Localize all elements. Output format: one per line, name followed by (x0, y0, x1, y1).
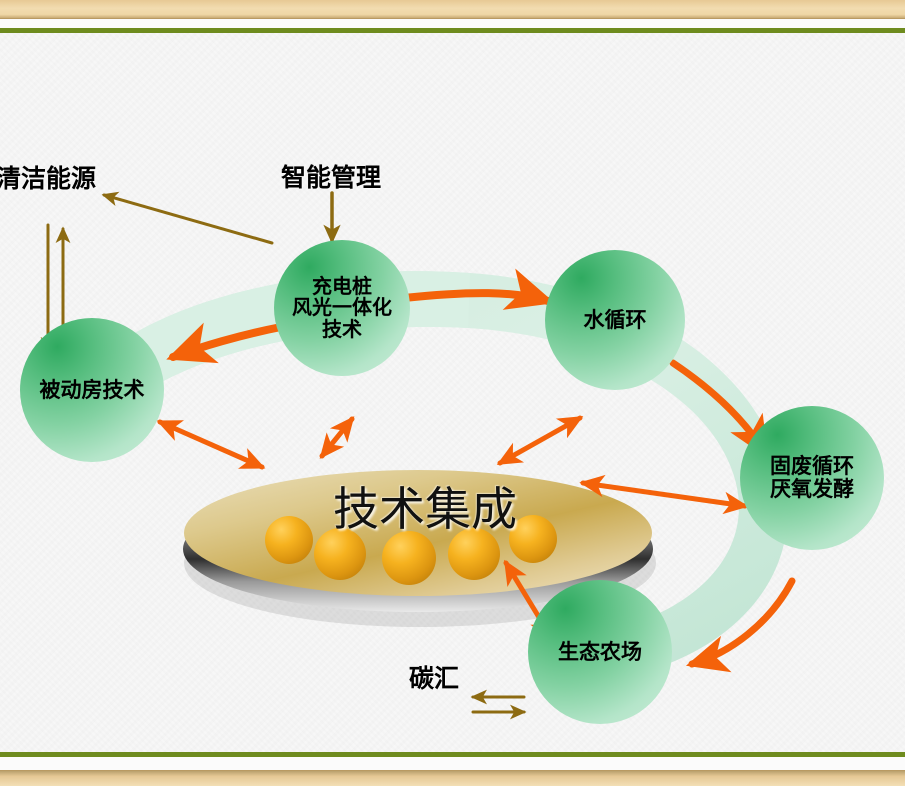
node-label-passive-house: 被动房技术 (40, 379, 145, 402)
node-water-cycle[interactable]: 水循环 (545, 250, 685, 390)
slide-bottom-gap (0, 757, 905, 770)
node-passive-house[interactable]: 被动房技术 (20, 318, 164, 462)
slide-bottom-border-band (0, 771, 905, 786)
node-label-charging-line3: 技术 (292, 319, 392, 341)
slide-top-green-rule (0, 28, 905, 33)
node-label-solidwaste-line2: 厌氧发酵 (770, 478, 854, 501)
node-eco-farm[interactable]: 生态农场 (528, 580, 672, 724)
node-label-charging-line2: 风光一体化 (292, 297, 392, 319)
arrow-solidwaste-to-ecofarm (692, 581, 792, 664)
label-smart-management: 智能管理 (281, 158, 381, 194)
node-label-solidwaste-line1: 固废循环 (770, 455, 854, 478)
label-clean-energy: 清洁能源 (0, 159, 96, 195)
diagram-stage: 技术集成 (0, 33, 905, 752)
slide-canvas: 技术集成 (0, 0, 905, 786)
node-solid-waste[interactable]: 固废循环 厌氧发酵 (740, 406, 884, 550)
arrow-charging-to-water (404, 293, 548, 301)
arrow-passive-center (160, 422, 262, 467)
node-label-eco-farm: 生态农场 (558, 641, 642, 664)
arrow-charging-center (322, 419, 352, 456)
arrow-charging-to-cleanenergy (104, 195, 272, 243)
arrow-water-center (500, 418, 580, 463)
slide-top-gap (0, 19, 905, 28)
node-charging-pile[interactable]: 充电桩 风光一体化 技术 (274, 240, 410, 376)
arrow-charging-to-passive (173, 327, 281, 357)
node-label-water-cycle: 水循环 (584, 309, 647, 332)
arrow-solidwaste-center (583, 483, 745, 506)
node-label-charging-line1: 充电桩 (292, 276, 392, 298)
slide-top-border-band (0, 0, 905, 18)
label-carbon-sink: 碳汇 (409, 659, 459, 695)
